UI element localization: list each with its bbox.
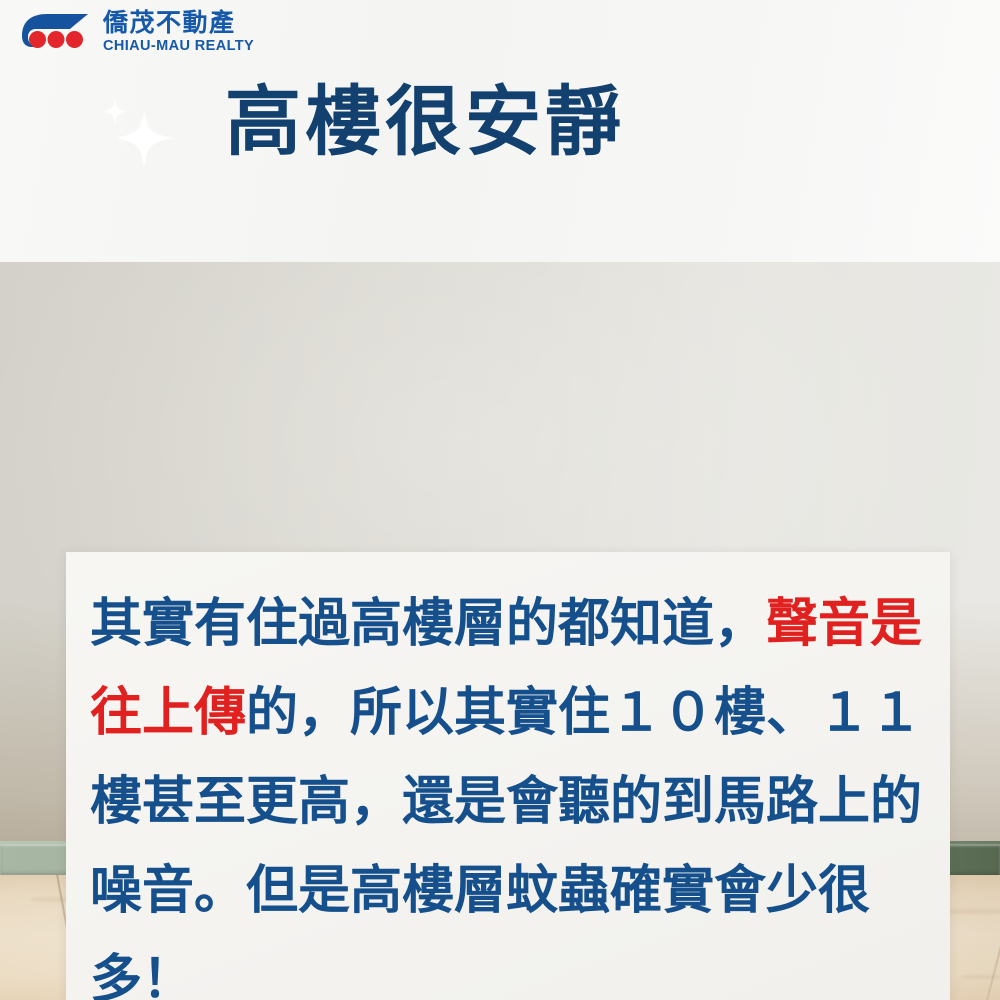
sparkle-star-icon: [98, 92, 182, 176]
chiau-mau-swoosh-logo-icon: [14, 10, 94, 54]
card-body: 其實有住過高樓層的都知道，聲音是往上傳的，所以其實住１０樓、１１樓甚至更高，還是…: [90, 580, 932, 1000]
brand-name-en: CHIAU-MAU REALTY: [103, 39, 254, 54]
header-band: 僑茂不動產 CHIAU-MAU REALTY 高樓很安靜: [0, 0, 1000, 262]
brand-wordmark: 僑茂不動產 CHIAU-MAU REALTY: [103, 10, 254, 54]
page-title: 高樓很安靜: [225, 80, 625, 164]
content-card: 其實有住過高樓層的都知道，聲音是往上傳的，所以其實住１０樓、１１樓甚至更高，還是…: [66, 552, 950, 1000]
room-scene: 其實有住過高樓層的都知道，聲音是往上傳的，所以其實住１０樓、１１樓甚至更高，還是…: [0, 262, 1000, 1000]
poster-canvas: 僑茂不動產 CHIAU-MAU REALTY 高樓很安靜 其實有住過高樓層的都知…: [0, 0, 1000, 1000]
body-paragraph: 其實有住過高樓層的都知道，聲音是往上傳的，所以其實住１０樓、１１樓甚至更高，還是…: [90, 580, 932, 1000]
brand-logo: 僑茂不動產 CHIAU-MAU REALTY: [14, 10, 254, 54]
body-plain-text: 其實有住過高樓層的都知道，: [90, 594, 766, 654]
brand-name-cn: 僑茂不動產: [103, 10, 254, 35]
